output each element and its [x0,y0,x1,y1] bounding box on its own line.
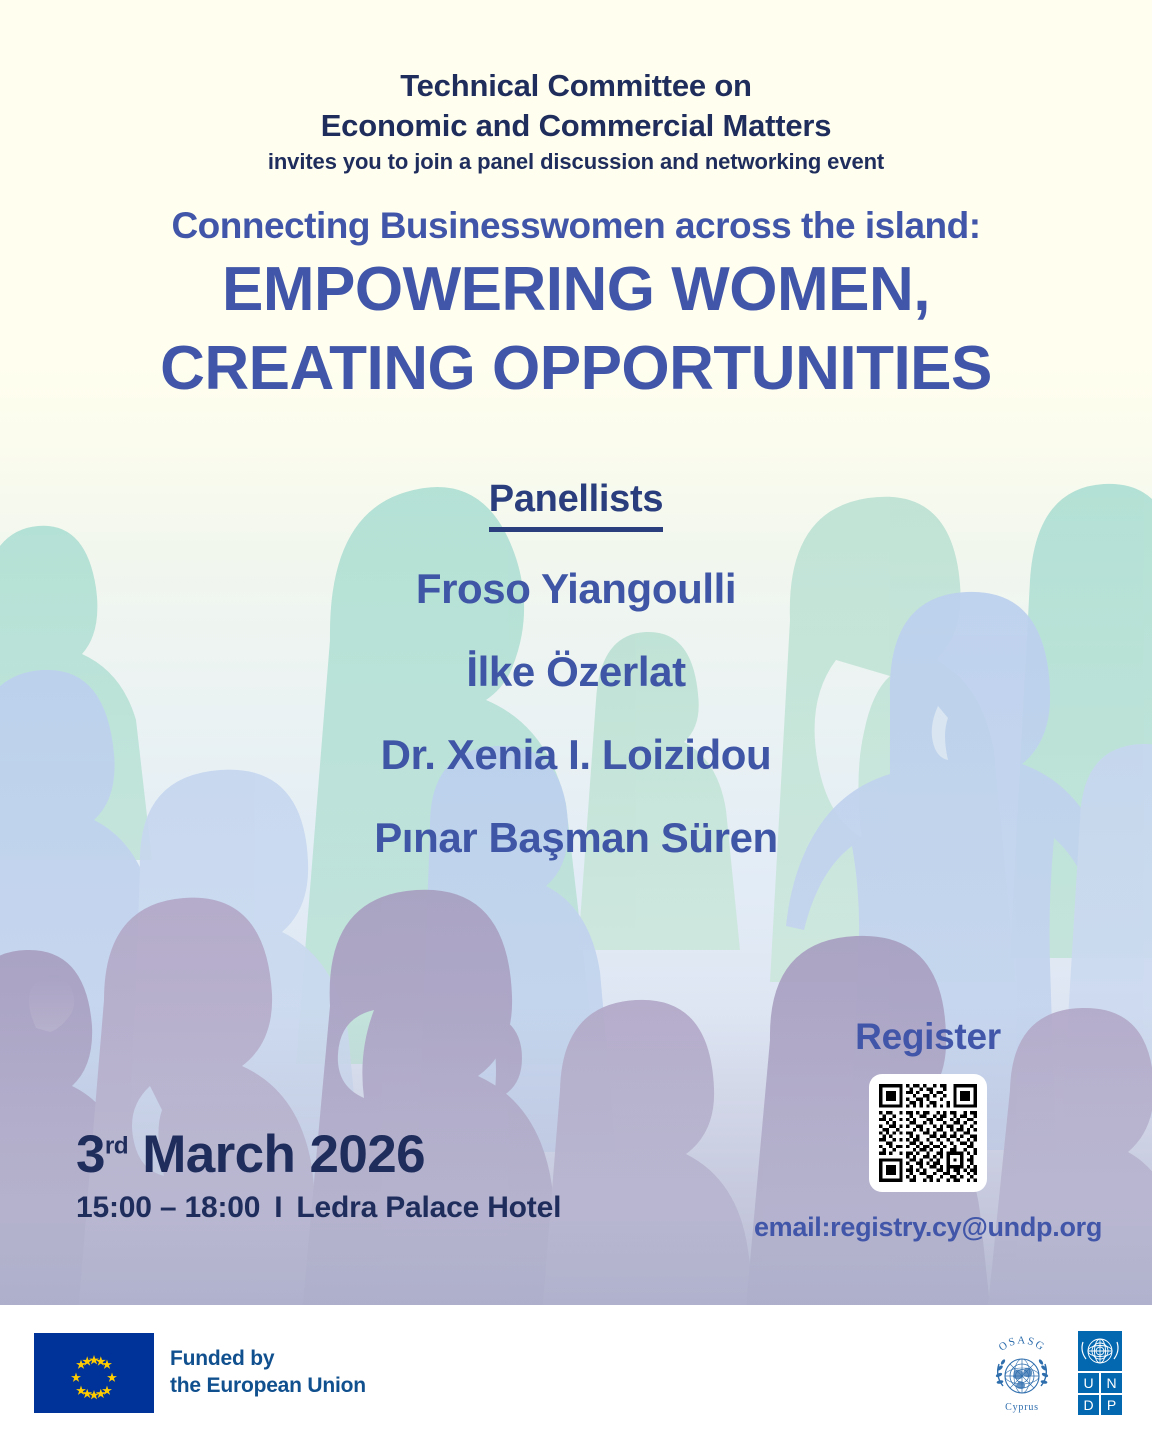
undp-letter-p: P [1107,1397,1116,1413]
un-emblem-icon [995,1358,1049,1392]
partner-logos: OSASG [984,1330,1122,1416]
event-day-suffix: rd [105,1132,128,1159]
event-month-year: March 2026 [142,1125,425,1184]
event-datetime-block: 3rd March 2026 15:00 – 18:00ILedra Palac… [76,1128,561,1225]
registration-block: Register [722,1016,1134,1243]
panellists-list: Froso Yiangoulli İlke Özerlat Dr. Xenia … [0,568,1152,859]
committee-name-line1: Technical Committee on [0,66,1152,106]
panellists-block: Panellists Froso Yiangoulli İlke Özerlat… [0,478,1152,859]
eu-funding-text: Funded by the European Union [170,1346,366,1400]
panellist-name: Dr. Xenia I. Loizidou [0,734,1152,776]
panellist-name: Froso Yiangoulli [0,568,1152,610]
eu-text-line2: the European Union [170,1373,366,1400]
osasg-arc-text: OSASG [997,1334,1048,1353]
event-poster: Technical Committee on Economic and Comm… [0,0,1152,1440]
poster-header: Technical Committee on Economic and Comm… [0,66,1152,178]
european-union-flag-icon [34,1333,154,1413]
event-venue: Ledra Palace Hotel [296,1191,561,1224]
title-kicker: Connecting Businesswomen across the isla… [0,203,1152,249]
title-main-line1: EMPOWERING WOMEN, [0,253,1152,327]
undp-letter-n: N [1106,1375,1116,1391]
registration-email[interactable]: email:registry.cy@undp.org [722,1212,1134,1243]
panellist-name: İlke Özerlat [0,651,1152,693]
undp-logo-icon: U N D P [1078,1331,1122,1415]
osasg-caption: Cyprus [1005,1402,1039,1413]
event-day: 3 [76,1125,105,1184]
time-venue-separator: I [260,1191,296,1224]
panellist-name: Pınar Başman Süren [0,817,1152,859]
svg-text:OSASG: OSASG [997,1334,1048,1353]
register-label: Register [722,1016,1134,1058]
invitation-subtitle: invites you to join a panel discussion a… [0,145,1152,178]
event-title-block: Connecting Businesswomen across the isla… [0,203,1152,406]
event-time-venue: 15:00 – 18:00ILedra Palace Hotel [76,1191,561,1225]
committee-name-line2: Economic and Commercial Matters [0,106,1152,146]
undp-letter-d: D [1083,1397,1093,1413]
panellists-heading: Panellists [489,478,663,532]
undp-letter-u: U [1083,1375,1093,1391]
poster-footer: Funded by the European Union OSASG [0,1305,1152,1440]
osasg-cyprus-logo: OSASG [984,1330,1060,1416]
eu-funding-logo: Funded by the European Union [34,1333,366,1413]
event-time: 15:00 – 18:00 [76,1191,260,1224]
event-date: 3rd March 2026 [76,1128,561,1182]
title-main-line2: CREATING OPPORTUNITIES [0,332,1152,406]
qr-code-icon[interactable] [869,1074,987,1192]
eu-text-line1: Funded by [170,1346,366,1373]
